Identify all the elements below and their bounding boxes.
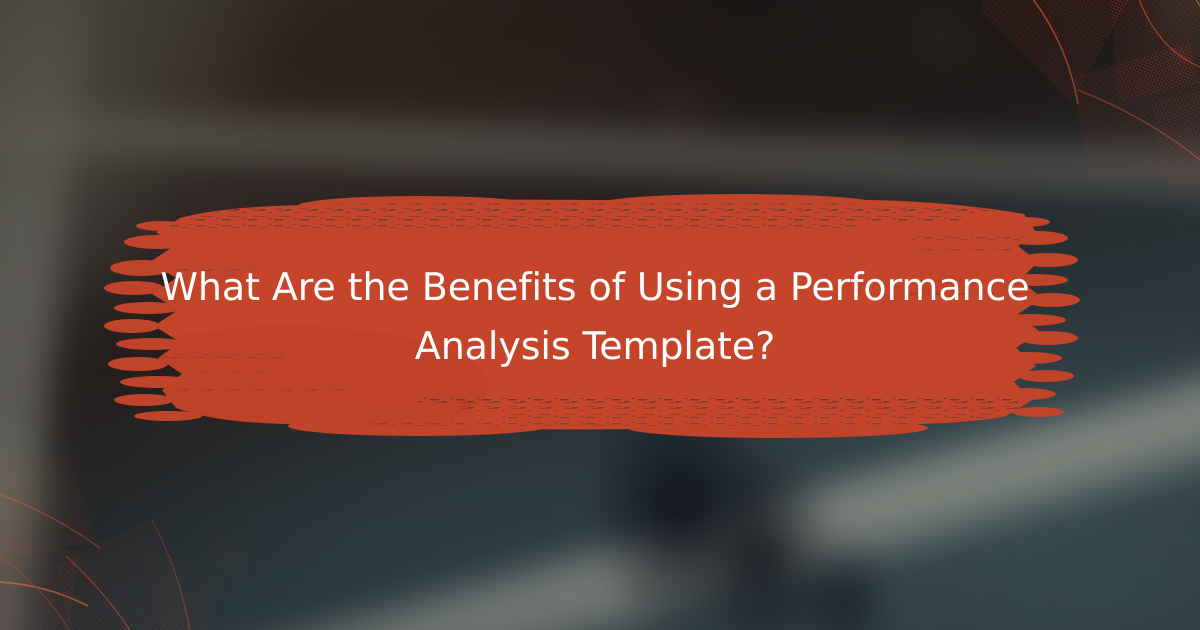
headline-line-2: Analysis Template? <box>160 317 1030 376</box>
headline-line-1: What Are the Benefits of Using a Perform… <box>160 258 1030 317</box>
headline: What Are the Benefits of Using a Perform… <box>160 258 1030 376</box>
hero-card: What Are the Benefits of Using a Perform… <box>0 0 1200 630</box>
